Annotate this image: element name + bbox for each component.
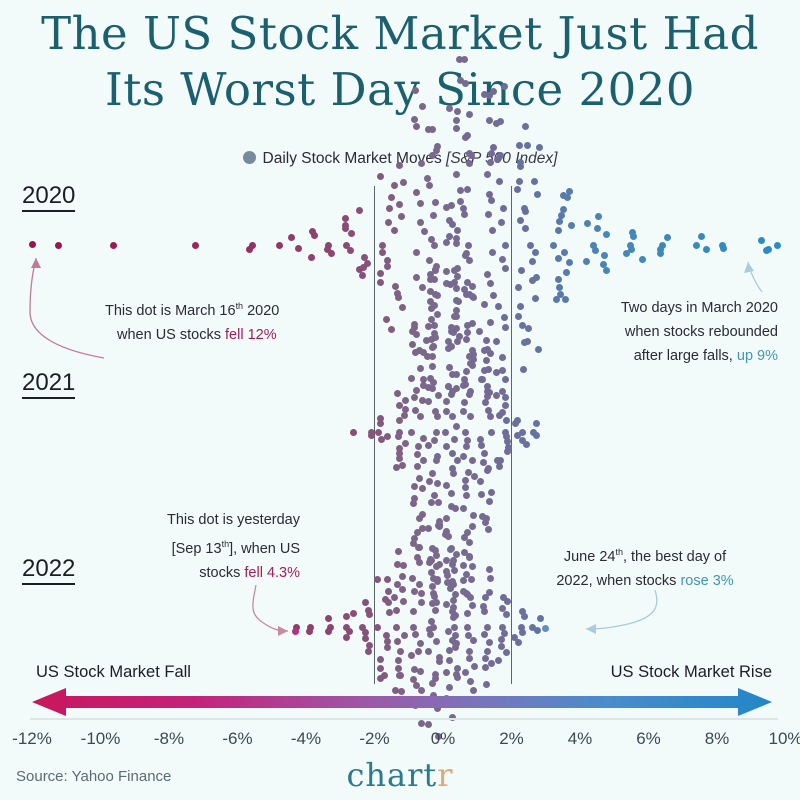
swarm-dot [533,274,540,281]
swarm-dot [395,665,402,672]
swarm-dot [555,255,562,262]
swarm-dot [504,438,511,445]
swarm-dot [433,599,440,606]
swarm-dot [443,528,450,535]
swarm-dot [488,489,495,496]
swarm-dot [431,322,438,329]
swarm-dot [434,576,441,583]
swarm-dot [452,505,459,512]
swarm-dot [416,559,423,566]
swarm-dot [466,553,473,560]
axis-baseline [30,718,778,720]
swarm-dot [469,283,476,290]
swarm-dot [484,383,491,390]
swarm-dot [462,484,469,491]
year-label-2022: 2022 [22,556,75,585]
swarm-dot [451,624,458,631]
swarm-dot [443,443,450,450]
swarm-dot [523,441,530,448]
swarm-dot [429,344,436,351]
swarm-dot [503,649,510,656]
swarm-dot [425,442,432,449]
swarm-dot [445,628,452,635]
swarm-dot [484,467,491,474]
swarm-dot [445,338,452,345]
swarm-dot [445,345,452,352]
swarm-dot [482,664,489,671]
swarm-dot [431,593,438,600]
swarm-dot [392,283,399,290]
title-line-1: The US Stock Market Just Had [41,7,759,60]
swarm-dot [442,429,449,436]
swarm-dot [532,295,539,302]
swarm-dot [503,611,510,618]
swarm-dot [639,256,646,263]
swarm-dot [413,123,420,130]
swarm-dot [377,665,384,672]
swarm-dot [430,343,437,350]
swarm-dot [443,568,450,575]
swarm-dot [382,596,389,603]
swarm-dot [401,412,408,419]
swarm-dot [431,302,438,309]
swarm-dot [460,562,467,569]
swarm-dot [519,429,526,436]
swarm-dot [485,526,492,533]
swarm-dot [486,639,493,646]
swarm-dot [469,457,476,464]
swarm-dot [401,632,408,639]
swarm-dot [434,292,441,299]
swarm-dot [453,240,460,247]
swarm-dot [420,457,427,464]
swarm-dot [447,585,454,592]
swarm-dot [343,624,350,631]
swarm-dot [427,631,434,638]
swarm-dot [420,382,427,389]
swarm-dot-outlier [29,241,36,248]
swarm-dot [412,631,419,638]
swarm-dot [362,635,369,642]
swarm-dot [499,256,506,263]
swarm-dot [383,316,390,323]
swarm-dot [393,607,400,614]
swarm-dot [514,417,521,424]
swarm-dot [431,492,438,499]
swarm-dot [424,175,431,182]
swarm-dot [420,435,427,442]
swarm-dot [522,123,529,130]
swarm-dot [467,594,474,601]
swarm-dot [448,545,455,552]
swarm-dot [488,429,495,436]
swarm-dot [398,213,405,220]
swarm-dot [430,590,437,597]
swarm-dot [412,349,419,356]
swarm-dot [428,557,435,564]
swarm-dot [623,250,630,257]
swarm-dot [481,367,488,374]
swarm-dot [590,242,597,249]
swarm-dot [470,356,477,363]
anno-march16-fall-value: fell 12% [225,327,277,343]
swarm-dot [446,217,453,224]
swarm-dot [377,173,384,180]
swarm-dot [432,334,439,341]
swarm-dot [435,392,442,399]
swarm-dot [426,559,433,566]
swarm-dot [325,242,332,249]
swarm-dot [449,608,456,615]
swarm-dot [451,267,458,274]
anno-june24-sup: th [615,547,623,557]
swarm-dot [375,429,382,436]
swarm-dot [463,368,470,375]
swarm-dot [466,648,473,655]
swarm-dot [464,591,471,598]
annotation-march-16-2020: This dot is March 16th 2020 when US stoc… [105,294,279,347]
swarm-dot [246,246,253,253]
swarm-dot [432,675,439,682]
swarm-dot [630,233,637,240]
chart-legend: Daily Stock Market Moves [S&P 500 Index] [0,150,800,168]
swarm-dot [436,523,443,530]
anno-march16-line1: This dot is March 16 [105,303,236,319]
swarm-dot [515,284,522,291]
swarm-dot [408,375,415,382]
swarm-dot [429,470,436,477]
swarm-dot [396,672,403,679]
swarm-dot [443,482,450,489]
swarm-dot [276,242,283,249]
swarm-dot [452,640,459,647]
swarm-dot [419,485,426,492]
swarm-dot [517,217,524,224]
swarm-dot [453,551,460,558]
swarm-dot [451,313,458,320]
swarm-dot [448,343,455,350]
swarm-dot [410,624,417,631]
swarm-dot [464,329,471,336]
swarm-dot [414,529,421,536]
swarm-dot [497,457,504,464]
anno-june24-line1b: , the best day of [623,549,726,565]
anno-yesterday-line3a: stocks [199,565,244,581]
axis-band-label-rise: US Stock Market Rise [611,663,772,682]
swarm-dot [385,219,392,226]
swarm-dot [529,277,536,284]
swarm-dot [430,343,437,350]
swarm-dot [361,254,368,261]
swarm-dot [485,465,492,472]
swarm-dot [564,194,571,201]
swarm-dot [343,613,350,620]
year-label-2020: 2020 [22,183,75,212]
swarm-dot [500,594,507,601]
swarm-dot [434,578,441,585]
swarm-dot [377,279,384,286]
swarm-dot [360,264,367,271]
swarm-dot [411,588,418,595]
gridline-minus-2-percent [374,186,375,684]
year-label-2021: 2021 [22,370,75,399]
swarm-dot [385,588,392,595]
swarm-dot [432,607,439,614]
swarm-dot [395,294,402,301]
swarm-dot [428,305,435,312]
swarm-dot-outlier [292,628,299,635]
swarm-dot [443,408,450,415]
swarm-dot [433,429,440,436]
swarm-dot [464,132,471,139]
swarm-dot [443,557,450,564]
swarm-dot [453,371,460,378]
swarm-dot [432,291,439,298]
swarm-dot [359,272,366,279]
swarm-dot [362,599,369,606]
swarm-dot [433,552,440,559]
swarm-dot [448,328,455,335]
swarm-dot [529,258,536,265]
legend-label: Daily Stock Market Moves [263,150,442,167]
swarm-dot [454,273,461,280]
swarm-dot [521,205,528,212]
swarm-dot [402,406,409,413]
swarm-dot [400,598,407,605]
swarm-dot [460,408,467,415]
swarm-dot [462,252,469,259]
swarm-dot [466,291,473,298]
swarm-dot [496,412,503,419]
anno-june24-line1a: June 24 [564,549,616,565]
swarm-dot [452,591,459,598]
swarm-dot [388,194,395,201]
swarm-dot [417,413,424,420]
swarm-dot [557,291,564,298]
swarm-dot [428,316,435,323]
swarm-dot [412,407,419,414]
swarm-dot [601,252,608,259]
swarm-dot [493,392,500,399]
swarm-dot [396,450,403,457]
swarm-dot [512,420,519,427]
swarm-dot [468,576,475,583]
swarm-dot [55,242,62,249]
swarm-dot [350,610,357,617]
swarm-dot [377,656,384,663]
swarm-dot [396,417,403,424]
swarm-dot [501,630,508,637]
swarm-dot [466,554,473,561]
axis-tick-10pct: 10% [768,729,800,749]
swarm-dot [522,225,529,232]
swarm-dot [430,379,437,386]
swarm-dot [502,429,509,436]
swarm-dot [379,242,386,249]
swarm-dot [493,338,500,345]
swarm-dot [414,554,421,561]
swarm-dot [464,186,471,193]
swarm-dot [453,117,460,124]
swarm-dot [462,669,469,676]
swarm-dot [484,388,491,395]
swarm-dot [450,581,457,588]
swarm-dot [449,221,456,228]
swarm-dot [534,627,541,634]
swarm-dot [432,671,439,678]
anno-rebound-rise-value: up 9% [737,348,778,364]
swarm-dot [448,391,455,398]
swarm-dot [426,257,433,264]
swarm-dot [497,118,504,125]
swarm-dot [514,432,521,439]
swarm-dot [421,228,428,235]
swarm-dot [470,512,477,519]
swarm-dot [288,234,295,241]
swarm-dot [477,436,484,443]
swarm-dot [464,437,471,444]
swarm-dot [453,671,460,678]
swarm-dot [464,529,471,536]
swarm-dot [471,663,478,670]
swarm-dot [386,609,393,616]
swarm-dot [293,624,300,631]
swarm-dot [463,250,470,257]
anno-yesterday-line2b: ], when US [229,541,300,557]
swarm-dot [485,366,492,373]
anno-march16-line2a: when US stocks [117,327,225,343]
swarm-dot [429,583,436,590]
anno-yesterday-line2a: [Sep 13 [172,541,222,557]
swarm-dot [583,258,590,265]
swarm-dot [431,276,438,283]
swarm-dot [442,531,449,538]
swarm-dot [556,284,563,291]
swarm-dot [461,211,468,218]
swarm-dot [419,525,426,532]
swarm-dot [451,279,458,286]
swarm-dot [457,198,464,205]
swarm-dot [498,643,505,650]
swarm-dot [463,590,470,597]
swarm-dot [503,417,510,424]
swarm-dot [418,599,425,606]
swarm-dot [410,540,417,547]
axis-band-label-fall: US Stock Market Fall [36,663,191,682]
swarm-dot [484,171,491,178]
swarm-dot [463,336,470,343]
swarm-dot [446,233,453,240]
swarm-dot [249,242,256,249]
swarm-dot [483,357,490,364]
swarm-dot [408,429,415,436]
swarm-dot [483,337,490,344]
swarm-dot [411,321,418,328]
swarm-dot [479,376,486,383]
swarm-dot [436,518,443,525]
swarm-dot [516,178,523,185]
swarm-dot [378,436,385,443]
swarm-dot [466,391,473,398]
swarm-dot [481,347,488,354]
swarm-dot [453,423,460,430]
swarm-dot [562,296,569,303]
swarm-dot [455,298,462,305]
swarm-dot [482,519,489,526]
swarm-dot [500,205,507,212]
swarm-dot [418,590,425,597]
swarm-dot [496,463,503,470]
swarm-dot [558,212,565,219]
swarm-dot [488,197,495,204]
swarm-dot [515,639,522,646]
swarm-dot [469,362,476,369]
swarm-dot [453,313,460,320]
swarm-dot [384,257,391,264]
swarm-dot [450,470,457,477]
swarm-dot [427,298,434,305]
swarm-dot [467,413,474,420]
swarm-dot [467,678,474,685]
swarm-dot [420,349,427,356]
swarm-dot [484,271,491,278]
swarm-dot [469,293,476,300]
swarm-dot [452,632,459,639]
swarm-dot [450,597,457,604]
swarm-dot [560,192,567,199]
swarm-dot [427,276,434,283]
swarm-dot [449,371,456,378]
swarm-dot-outlier [758,237,765,244]
swarm-dot [410,500,417,507]
swarm-dot-outlier [542,625,549,632]
swarm-dot [386,205,393,212]
swarm-dot [454,457,461,464]
swarm-dot [453,285,460,292]
swarm-dot [470,351,477,358]
axis-tick-0pct: 0% [431,729,456,749]
logo-main: chart [346,756,437,794]
swarm-dot [374,624,381,631]
anno-rebound-line2: when stocks rebounded [621,320,778,344]
swarm-dot [426,478,433,485]
swarm-dot [489,227,496,234]
title-line-2: Its Worst Day Since 2020 [0,62,800,118]
swarm-dot [343,634,350,641]
swarm-dot [469,602,476,609]
swarm-dot [478,442,485,449]
swarm-dot [465,469,472,476]
swarm-dot [457,187,464,194]
swarm-dot [481,301,488,308]
swarm-dot [445,383,452,390]
swarm-dot [568,222,575,229]
anno-rebound-line3a: after large falls, [634,348,737,364]
swarm-dot [535,346,542,353]
swarm-dot [429,545,436,552]
swarm-dot [461,399,468,406]
swarm-dot [365,607,372,614]
swarm-dot [416,544,423,551]
swarm-dot [426,182,433,189]
swarm-dot [415,544,422,551]
swarm-dot [425,648,432,655]
swarm-dot [400,179,407,186]
swarm-dot [447,281,454,288]
swarm-dot [556,218,563,225]
swarm-dot [488,660,495,667]
swarm-dot [377,675,384,682]
